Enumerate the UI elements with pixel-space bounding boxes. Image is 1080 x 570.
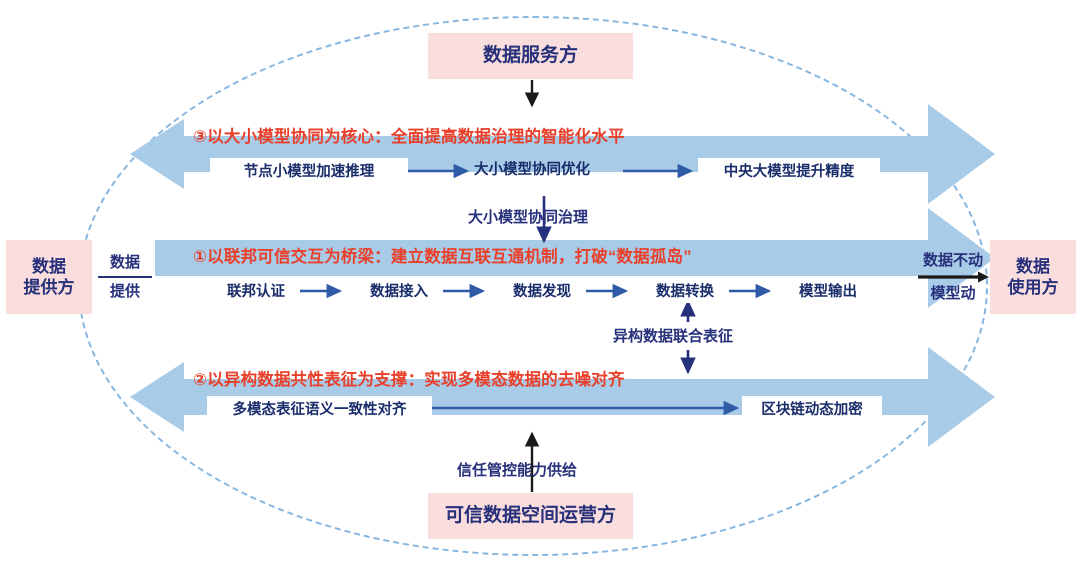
node-bottom-2[interactable]: 区块链动态加密 (742, 396, 882, 421)
label-data-stays-model-moves: 数据不动 模型动 (905, 240, 1001, 314)
label-data-provision: 数据 提供 (96, 240, 154, 314)
node-top-1[interactable]: 节点小模型加速推理 (210, 158, 408, 183)
actor-data-provider[interactable]: 数据 提供方 (6, 240, 92, 314)
node-mid-1[interactable]: 联邦认证 (212, 278, 300, 303)
caption-heterogeneous-joint-representation: 异构数据联合表征 (613, 329, 733, 344)
caption-trust-governance-capability-supply: 信任管控能力供给 (457, 463, 577, 478)
caption-large-small-model-governance: 大小模型协同治理 (468, 210, 588, 225)
label-data-provision-top: 数据 (110, 255, 140, 270)
arrow-to-consumer-icon (916, 271, 990, 283)
node-mid-4[interactable]: 数据转换 (641, 278, 729, 303)
band-top-shape (130, 104, 995, 204)
actor-data-service-provider[interactable]: 数据服务方 (428, 33, 633, 79)
label-model-moves: 模型动 (930, 286, 975, 301)
node-mid-5[interactable]: 模型输出 (784, 278, 872, 303)
band-bottom-headline: ②以异构数据共性表征为支撑：实现多模态数据的去噪对齐 (193, 372, 625, 389)
diagram-canvas: 数据服务方 可信数据空间运营方 数据 提供方 数据 使用方 数据 提供 数据不动… (0, 0, 1080, 570)
node-top-3[interactable]: 中央大模型提升精度 (698, 158, 880, 183)
label-data-stays: 数据不动 (923, 253, 983, 268)
label-data-provision-bottom: 提供 (110, 284, 140, 299)
node-mid-2[interactable]: 数据接入 (355, 278, 443, 303)
node-bottom-1[interactable]: 多模态表征语义一致性对齐 (207, 396, 432, 421)
label-divider-left (98, 276, 152, 279)
node-mid-3[interactable]: 数据发现 (498, 278, 586, 303)
actor-data-consumer[interactable]: 数据 使用方 (990, 240, 1076, 314)
actor-trusted-data-space-operator[interactable]: 可信数据空间运营方 (428, 493, 633, 539)
node-top-2: 大小模型协同优化 (474, 158, 590, 183)
band-middle-headline: ①以联邦可信交互为桥梁：建立数据互联互通机制，打破“数据孤岛” (193, 249, 692, 266)
band-top-headline: ③以大小模型协同为核心：全面提高数据治理的智能化水平 (193, 129, 625, 146)
